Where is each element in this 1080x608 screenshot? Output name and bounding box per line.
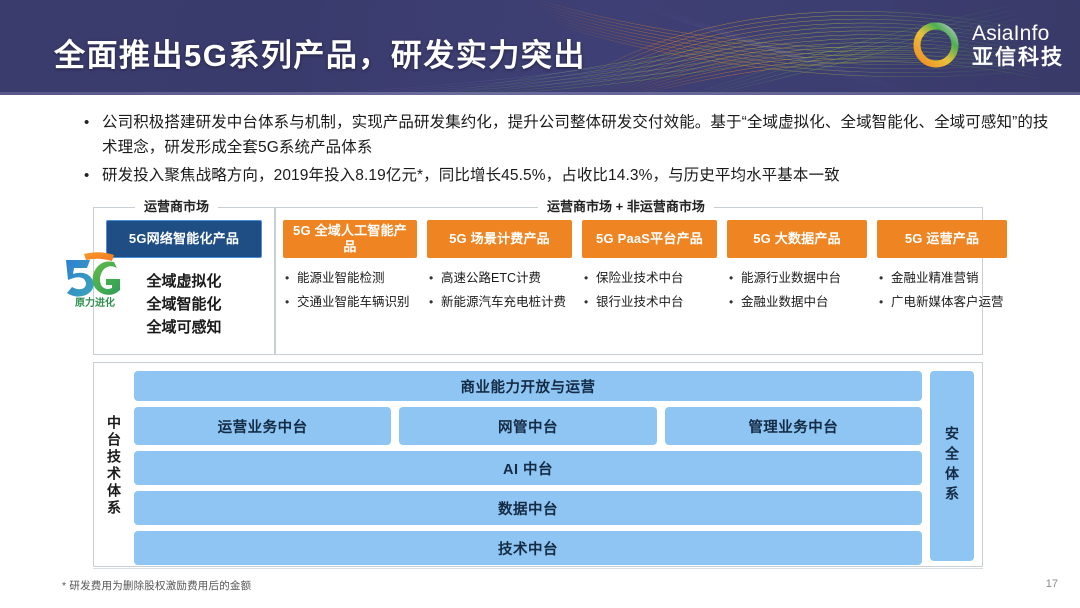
bracket-label-operator-market: 运营商市场 [135, 196, 218, 215]
product-item: • 金融业精准营销 [879, 268, 1007, 288]
item-bullet-icon: • [285, 268, 297, 288]
page-title: 全面推出5G系列产品，研发实力突出 [54, 30, 586, 75]
product-column-6: 5G 运营产品 • 金融业精准营销 • 广电新媒体客户运营 [877, 220, 1007, 316]
item-bullet-icon: • [429, 292, 441, 312]
stack-side-label: 中台技术体系 [94, 363, 134, 568]
footer-divider [93, 568, 983, 569]
item-label: 高速公路ETC计费 [441, 268, 541, 288]
page-number: 17 [1046, 578, 1058, 590]
item-label: 能源业智能检测 [297, 268, 385, 288]
bullet-marker: • [84, 163, 102, 188]
stack-bar-network-management: 网管中台 [399, 407, 656, 445]
bullet-text: 研发投入聚焦战略方向，2019年投入8.19亿元*，同比增长45.5%，占收比1… [102, 163, 840, 188]
item-bullet-icon: • [879, 292, 891, 312]
item-label: 金融业精准营销 [891, 268, 979, 288]
bullet-item: • 研发投入聚焦战略方向，2019年投入8.19亿元*，同比增长45.5%，占收… [84, 163, 1059, 188]
item-label: 金融业数据中台 [741, 292, 829, 312]
product-item: • 保险业技术中台 [584, 268, 717, 288]
product-cap-3: 5G 场景计费产品 [427, 220, 572, 258]
product-items-3: • 高速公路ETC计费 • 新能源汽车充电桩计费 [427, 268, 572, 312]
product-diagram: 运营商市场 运营商市场 + 非运营商市场 5G网络智能化产品 全域虚拟化 全域智… [93, 207, 983, 355]
stack-bar-top: 商业能力开放与运营 [134, 371, 922, 401]
footnote: * 研发费用为删除股权激励费用后的金额 [62, 578, 251, 593]
product-cap-2: 5G 全域人工智能产品 [283, 220, 417, 258]
product-cap-5: 5G 大数据产品 [727, 220, 867, 258]
stack-bar-data: 数据中台 [134, 491, 922, 525]
brand-name-cn: 亚信科技 [972, 47, 1064, 68]
product-item: • 银行业技术中台 [584, 292, 717, 312]
item-bullet-icon: • [729, 292, 741, 312]
stack-bars: 商业能力开放与运营 运营业务中台 网管中台 管理业务中台 AI 中台 数据中台 … [134, 371, 922, 561]
item-bullet-icon: • [729, 268, 741, 288]
product-items-5: • 能源行业数据中台 • 金融业数据中台 [727, 268, 867, 312]
product-item: • 广电新媒体客户运营 [879, 292, 1007, 312]
product-column-3: 5G 场景计费产品 • 高速公路ETC计费 • 新能源汽车充电桩计费 [427, 220, 572, 316]
product-items-4: • 保险业技术中台 • 银行业技术中台 [582, 268, 717, 312]
product-column-5: 5G 大数据产品 • 能源行业数据中台 • 金融业数据中台 [727, 220, 867, 316]
bracket-label-operator-nonoperator-market: 运营商市场 + 非运营商市场 [538, 196, 714, 215]
platform-stack-diagram: 中台技术体系 商业能力开放与运营 运营业务中台 网管中台 管理业务中台 AI 中… [93, 362, 983, 567]
product-item: • 高速公路ETC计费 [429, 268, 572, 288]
product-cap-6: 5G 运营产品 [877, 220, 1007, 258]
item-label: 交通业智能车辆识别 [297, 292, 410, 312]
product-items-6: • 金融业精准营销 • 广电新媒体客户运营 [877, 268, 1007, 312]
item-label: 新能源汽车充电桩计费 [441, 292, 566, 312]
bullet-text: 公司积极搭建研发中台体系与机制，实现产品研发集约化，提升公司整体研发交付效能。基… [102, 110, 1059, 160]
item-bullet-icon: • [285, 292, 297, 312]
product-cap-4: 5G PaaS平台产品 [582, 220, 717, 258]
product-item: • 交通业智能车辆识别 [285, 292, 417, 312]
product-item: • 能源业智能检测 [285, 268, 417, 288]
product-column-4: 5G PaaS平台产品 • 保险业技术中台 • 银行业技术中台 [582, 220, 717, 316]
item-bullet-icon: • [879, 268, 891, 288]
slide-root: 全面推出5G系列产品，研发实力突出 AsiaInfo 亚信科技 [0, 0, 1080, 608]
stack-bar-ai: AI 中台 [134, 451, 922, 485]
product-item: • 新能源汽车充电桩计费 [429, 292, 572, 312]
stack-bar-operations-business: 运营业务中台 [134, 407, 391, 445]
stack-security-column: 安全体系 [930, 371, 974, 561]
asiainfo-ring-icon [909, 18, 963, 72]
product-column-2: 5G 全域人工智能产品 • 能源业智能检测 • 交通业智能车辆识别 [283, 220, 417, 316]
5g-evolution-logo: 原力进化 [56, 248, 134, 310]
header-divider [0, 92, 1080, 95]
item-label: 能源行业数据中台 [741, 268, 841, 288]
stack-side-label-text: 中台技术体系 [104, 415, 124, 517]
item-bullet-icon: • [584, 268, 596, 288]
logo-caption: 原力进化 [75, 296, 115, 309]
slide-header: 全面推出5G系列产品，研发实力突出 AsiaInfo 亚信科技 [0, 0, 1080, 95]
item-label: 银行业技术中台 [596, 292, 684, 312]
feature-item: 全域可感知 [106, 316, 262, 339]
item-label: 广电新媒体客户运营 [891, 292, 1004, 312]
stack-bar-management-business: 管理业务中台 [665, 407, 922, 445]
item-label: 保险业技术中台 [596, 268, 684, 288]
bullet-item: • 公司积极搭建研发中台体系与机制，实现产品研发集约化，提升公司整体研发交付效能… [84, 110, 1059, 160]
product-items-2: • 能源业智能检测 • 交通业智能车辆识别 [283, 268, 417, 312]
stack-security-label: 安全体系 [942, 426, 962, 506]
brand-lockup: AsiaInfo 亚信科技 [909, 18, 1064, 72]
product-item: • 金融业数据中台 [729, 292, 867, 312]
stack-middle-row: 运营业务中台 网管中台 管理业务中台 [134, 407, 922, 445]
item-bullet-icon: • [584, 292, 596, 312]
bullet-list: • 公司积极搭建研发中台体系与机制，实现产品研发集约化，提升公司整体研发交付效能… [84, 110, 1059, 191]
brand-name-en: AsiaInfo [972, 23, 1064, 44]
item-bullet-icon: • [429, 268, 441, 288]
bullet-marker: • [84, 110, 102, 135]
product-item: • 能源行业数据中台 [729, 268, 867, 288]
stack-bar-technology: 技术中台 [134, 531, 922, 565]
